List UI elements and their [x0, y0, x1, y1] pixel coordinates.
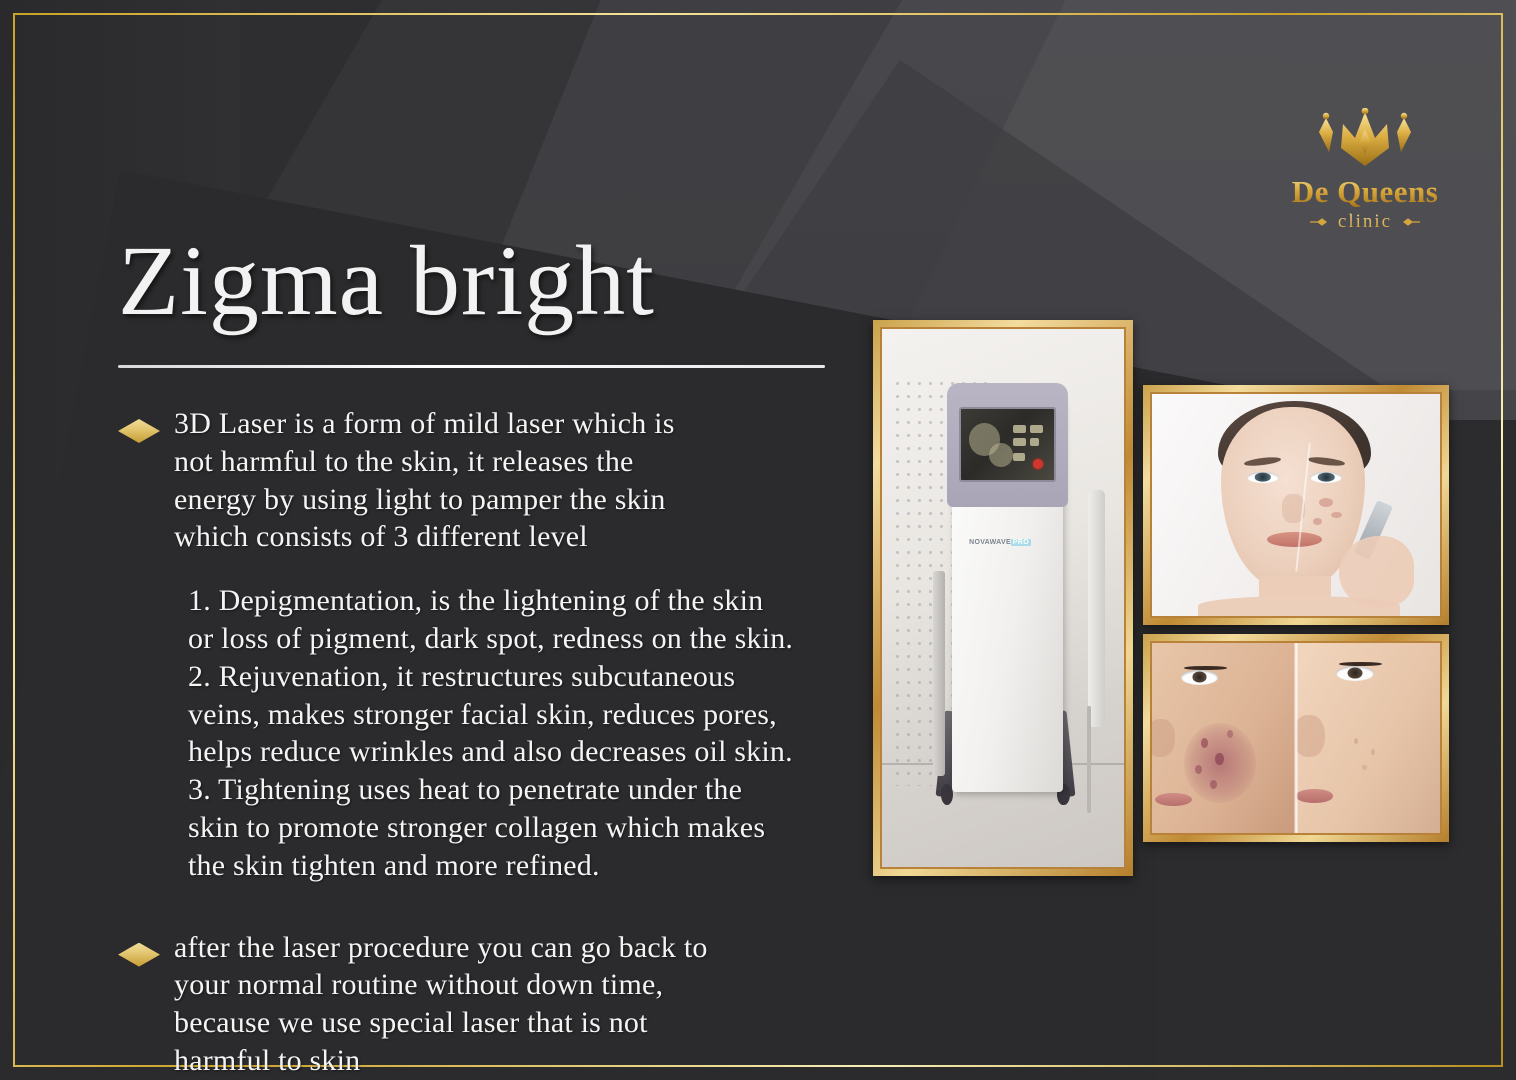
text-line: 3D Laser is a form of mild laser which i… — [174, 405, 675, 443]
acne-spot — [1210, 780, 1217, 790]
acne-spot — [1201, 738, 1208, 748]
list-item-line: the skin tighten and more refined. — [188, 847, 863, 885]
woman-face-treatment-photo — [1143, 385, 1449, 625]
nose — [1296, 715, 1325, 757]
bullet-block: 3D Laser is a form of mild laser which i… — [118, 405, 863, 556]
before-after-skin-photo — [1143, 634, 1449, 842]
iris — [1348, 668, 1363, 679]
hand — [1339, 536, 1414, 607]
brand-prefix: NOVAWAVE — [969, 539, 1011, 546]
iris — [1318, 473, 1334, 482]
brand-suffix: PRO — [1011, 539, 1031, 546]
logo-subtitle: clinic — [1338, 212, 1392, 231]
lip — [1155, 793, 1192, 806]
before-after-divider — [1295, 643, 1298, 833]
numbered-list: 1. Depigmentation, is the lightening of … — [118, 582, 863, 884]
before-skin-half — [1152, 643, 1296, 833]
promotional-slide: De Queens clinic Zigma bright 3D La — [0, 0, 1516, 1080]
screen-graphic — [989, 443, 1013, 467]
bullet-block: after the laser procedure you can go bac… — [118, 929, 863, 1080]
text-line: which consists of 3 different level — [174, 518, 675, 556]
iris — [1255, 473, 1271, 482]
diamond-bullet-icon — [118, 419, 160, 443]
laser-machine-photo: NOVAWAVEPRO — [873, 320, 1133, 876]
list-item-line: or loss of pigment, dark spot, redness o… — [188, 620, 863, 658]
residual-spot — [1371, 749, 1375, 755]
eye-right — [1310, 472, 1342, 483]
acne-spot — [1215, 753, 1224, 764]
photo-inner-frame: NOVAWAVEPRO — [880, 327, 1126, 869]
machine-side-arm — [933, 571, 945, 775]
residual-spot — [1362, 765, 1366, 771]
skin-blemish — [1313, 518, 1322, 525]
iris — [1192, 672, 1207, 683]
text-line: energy by using light to pamper the skin — [174, 481, 675, 519]
bullet-paragraph: after the laser procedure you can go bac… — [174, 929, 708, 1080]
body-content: 3D Laser is a form of mild laser which i… — [118, 405, 863, 1080]
list-item-line: 3. Tightening uses heat to penetrate und… — [188, 771, 863, 809]
screen-button — [1013, 438, 1026, 447]
screen-button — [1030, 438, 1039, 447]
list-item-line: helps reduce wrinkles and also decreases… — [188, 733, 863, 771]
logo-name: De Queens — [1260, 176, 1470, 207]
photo-inner-frame — [1150, 392, 1442, 618]
bullet-paragraph: 3D Laser is a form of mild laser which i… — [174, 405, 675, 556]
text-line: harmful to skin — [174, 1042, 708, 1080]
after-skin-half — [1296, 643, 1440, 833]
residual-spot — [1354, 738, 1358, 744]
page-title: Zigma bright — [118, 228, 655, 333]
lips — [1267, 532, 1322, 548]
text-line: not harmful to the skin, it releases the — [174, 443, 675, 481]
title-underline-rule — [118, 365, 825, 368]
brand-logo: De Queens clinic — [1260, 108, 1470, 231]
nose — [1152, 719, 1175, 757]
bullet-text-group: after the laser procedure you can go bac… — [174, 929, 708, 1080]
text-line: your normal routine without down time, — [174, 966, 708, 1004]
list-item-line: 1. Depigmentation, is the lightening of … — [188, 582, 863, 620]
photo-inner-frame — [1150, 641, 1442, 835]
screen-power-indicator — [1033, 459, 1043, 469]
machine-cable — [1087, 706, 1091, 814]
screen-button — [1030, 425, 1043, 434]
list-item-line: skin to promote stronger collagen which … — [188, 809, 863, 847]
list-item-line: veins, makes stronger facial skin, reduc… — [188, 696, 863, 734]
logo-dash-left-icon — [1310, 214, 1330, 230]
screen-button — [1013, 425, 1026, 434]
text-line: after the laser procedure you can go bac… — [174, 929, 708, 967]
acne-spot — [1227, 730, 1233, 738]
text-line: because we use special laser that is not — [174, 1004, 708, 1042]
machine-brand-label: NOVAWAVEPRO — [969, 539, 1031, 546]
screen-button — [1013, 453, 1024, 461]
eye-left — [1247, 472, 1279, 483]
eyelash — [1339, 662, 1382, 666]
lip — [1296, 789, 1333, 802]
crown-icon — [1309, 108, 1421, 170]
machine-handpiece — [1088, 490, 1105, 727]
logo-subtitle-row: clinic — [1260, 212, 1470, 231]
diamond-bullet-icon — [118, 943, 160, 967]
eye — [1336, 666, 1373, 681]
machine-display-screen — [959, 407, 1056, 482]
logo-dash-right-icon — [1400, 214, 1420, 230]
list-item-line: 2. Rejuvenation, it restructures subcuta… — [188, 658, 863, 696]
eyelash — [1184, 666, 1227, 670]
eye — [1181, 670, 1218, 685]
bullet-text-group: 3D Laser is a form of mild laser which i… — [174, 405, 675, 556]
